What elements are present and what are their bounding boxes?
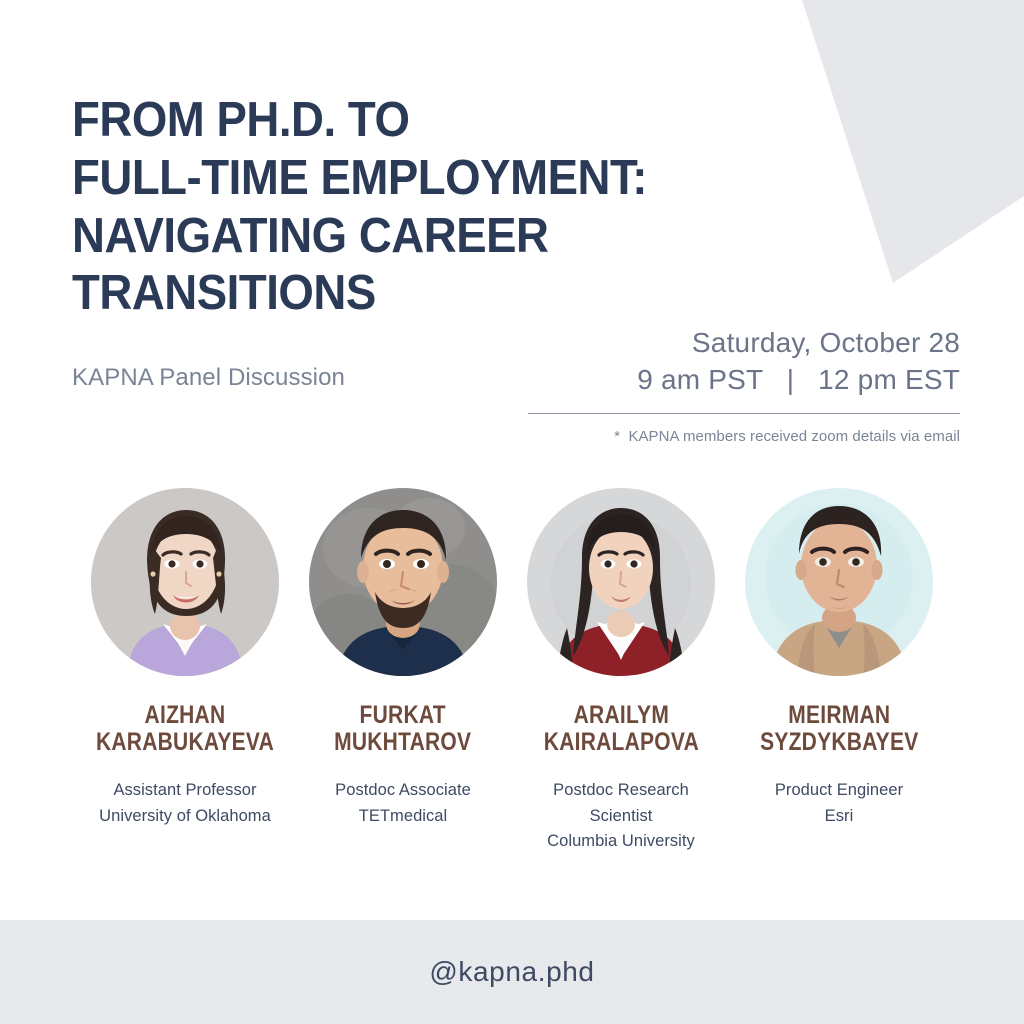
speaker-card: FURKAT MUKHTAROV Postdoc Associate TETme… — [308, 488, 498, 829]
speaker-role-line: Esri — [775, 804, 903, 830]
speaker-role-line: Assistant Professor — [99, 778, 271, 804]
headshot-furkat-mukhtarov — [309, 488, 497, 676]
event-note: * KAPNA members received zoom details vi… — [520, 414, 960, 445]
footer-band: @kapna.phd — [0, 920, 1024, 1024]
speaker-card: ARAILYM KAIRALAPOVA Postdoc Research Sci… — [526, 488, 716, 855]
speaker-card: MEIRMAN SYZDYKBAYEV Product Engineer Esr… — [744, 488, 934, 829]
speaker-card: AIZHAN KARABUKAYEVA Assistant Professor … — [90, 488, 280, 829]
speaker-role-line: Columbia University — [547, 829, 695, 855]
speaker-role-line: University of Oklahoma — [99, 804, 271, 830]
speakers-row: AIZHAN KARABUKAYEVA Assistant Professor … — [90, 488, 934, 855]
headshot-meirman-syzdykbayev — [745, 488, 933, 676]
avatar — [527, 488, 715, 676]
speaker-name: MEIRMAN SYZDYKBAYEV — [760, 702, 918, 756]
speaker-role: Postdoc Research Scientist Columbia Univ… — [547, 778, 695, 855]
speaker-name-line: AIZHAN — [96, 702, 274, 729]
event-poster: FROM PH.D. TO FULL-TIME EMPLOYMENT: NAVI… — [0, 0, 1024, 1024]
speaker-role-line: Product Engineer — [775, 778, 903, 804]
avatar — [309, 488, 497, 676]
speaker-role: Assistant Professor University of Oklaho… — [99, 778, 271, 829]
speaker-name-line: SYZDYKBAYEV — [760, 729, 918, 756]
title-line-3: NAVIGATING CAREER — [72, 208, 760, 266]
event-date: Saturday, October 28 — [520, 325, 960, 362]
speaker-name-line: MUKHTAROV — [334, 729, 471, 756]
avatar — [745, 488, 933, 676]
speaker-name-line: KAIRALAPOVA — [543, 729, 698, 756]
speaker-name: ARAILYM KAIRALAPOVA — [543, 702, 698, 756]
speaker-name: AIZHAN KARABUKAYEVA — [96, 702, 274, 756]
title-line-1: FROM PH.D. TO — [72, 92, 760, 150]
speaker-name-line: ARAILYM — [543, 702, 698, 729]
corner-accent-shape — [780, 0, 1024, 300]
subtitle: KAPNA Panel Discussion — [72, 364, 345, 392]
speaker-role-line: TETmedical — [335, 804, 471, 830]
title-line-4: TRANSITIONS — [72, 265, 760, 323]
divider — [528, 413, 960, 414]
social-handle: @kapna.phd — [429, 956, 594, 988]
event-datetime-block: Saturday, October 28 9 am PST | 12 pm ES… — [520, 325, 960, 445]
speaker-role-line: Scientist — [547, 804, 695, 830]
speaker-role: Postdoc Associate TETmedical — [335, 778, 471, 829]
speaker-name-line: KARABUKAYEVA — [96, 729, 274, 756]
event-time: 9 am PST | 12 pm EST — [520, 362, 960, 399]
speaker-role-line: Postdoc Associate — [335, 778, 471, 804]
avatar — [91, 488, 279, 676]
headshot-aizhan-karabukayeva — [91, 488, 279, 676]
title-line-2: FULL-TIME EMPLOYMENT: — [72, 150, 760, 208]
speaker-role: Product Engineer Esri — [775, 778, 903, 829]
speaker-role-line: Postdoc Research — [547, 778, 695, 804]
page-title: FROM PH.D. TO FULL-TIME EMPLOYMENT: NAVI… — [72, 92, 760, 323]
speaker-name: FURKAT MUKHTAROV — [334, 702, 471, 756]
speaker-name-line: MEIRMAN — [760, 702, 918, 729]
speaker-name-line: FURKAT — [334, 702, 471, 729]
headshot-arailym-kairalapova — [527, 488, 715, 676]
